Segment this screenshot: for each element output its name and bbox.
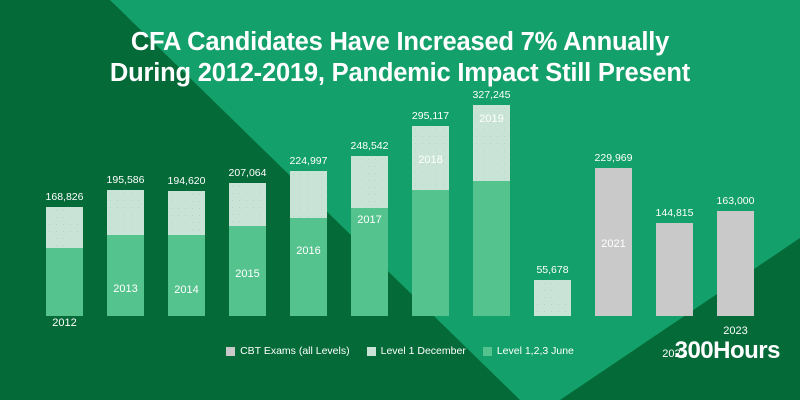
chart-title-line-1: CFA Candidates Have Increased 7% Annuall… [0,27,800,58]
bar-segment-december[interactable] [534,280,571,316]
bar-group-2014[interactable]: 194,6202014 [168,191,205,316]
bar-segment-december[interactable] [229,183,266,226]
legend-item-december[interactable]: Level 1 December [367,345,466,357]
legend-item-june[interactable]: Level 1,2,3 June [483,345,574,357]
bar-segment-june[interactable] [46,248,83,316]
legend-label: Level 1 December [381,345,466,357]
bar-group-2018[interactable]: 295,1172018 [412,126,449,316]
chart-title: CFA Candidates Have Increased 7% Annuall… [0,27,800,89]
bar-group-2023[interactable]: 163,0002023 [717,211,754,316]
bar-value-label: 224,997 [290,155,328,167]
bar-group-2021[interactable]: 229,9692021 [595,168,632,316]
legend-swatch-june-icon [483,347,492,356]
legend-label: Level 1,2,3 June [497,345,574,357]
bar-segment-december[interactable] [351,156,388,208]
bar-segment-cbt[interactable] [656,223,693,316]
bar-segment-june[interactable] [473,181,510,316]
bar-group-2015[interactable]: 207,0642015 [229,183,266,317]
infographic-canvas: CFA Candidates Have Increased 7% Annuall… [0,0,800,400]
bar-value-label: 55,678 [536,264,568,276]
x-axis-label-2015: 2015 [235,268,259,280]
x-axis-label-2014: 2014 [174,284,198,296]
x-axis-label-2017: 2017 [357,214,381,226]
x-axis-label-2019: 2019 [479,113,503,125]
brand-logo: 300Hours [675,337,780,365]
bar-segment-december[interactable] [168,191,205,236]
chart-title-line-2: During 2012-2019, Pandemic Impact Still … [0,58,800,89]
bar-value-label: 195,586 [107,174,145,186]
bar-segment-june[interactable] [107,235,144,316]
bar-segment-june[interactable] [412,190,449,316]
bar-group-2017[interactable]: 248,5422017 [351,156,388,316]
bar-group-2020[interactable]: 55,6782020 [534,280,571,316]
legend-item-cbt[interactable]: CBT Exams (all Levels) [226,345,350,357]
bar-group-2016[interactable]: 224,9972016 [290,171,327,316]
legend-swatch-cbt-icon [226,347,235,356]
bar-value-label: 194,620 [168,175,206,187]
bar-segment-december[interactable] [46,207,83,248]
legend-label: CBT Exams (all Levels) [240,345,350,357]
bar-segment-cbt[interactable] [717,211,754,316]
chart-plot-area: 168,8262012195,5862013194,6202014207,064… [34,105,766,316]
bar-value-label: 144,815 [656,207,694,219]
bar-value-label: 229,969 [595,152,633,164]
x-axis-label-2023: 2023 [723,325,747,337]
bar-value-label: 248,542 [351,140,389,152]
bar-group-2019[interactable]: 327,2452019 [473,105,510,316]
x-axis-label-2013: 2013 [113,283,137,295]
bar-value-label: 327,245 [473,89,511,101]
legend-swatch-december-icon [367,347,376,356]
bar-group-2012[interactable]: 168,8262012 [46,207,83,316]
x-axis-label-2018: 2018 [418,154,442,166]
x-axis-label-2016: 2016 [296,245,320,257]
bar-segment-december[interactable] [107,190,144,236]
content-layer: CFA Candidates Have Increased 7% Annuall… [0,0,800,400]
bar-group-2013[interactable]: 195,5862013 [107,190,144,316]
bar-segment-june[interactable] [168,235,205,316]
bar-value-label: 168,826 [46,191,84,203]
bar-value-label: 163,000 [717,195,755,207]
bar-value-label: 207,064 [229,167,267,179]
bar-group-2022[interactable]: 144,8152022 [656,223,693,316]
bar-segment-june[interactable] [290,218,327,316]
x-axis-label-2012: 2012 [52,317,76,329]
bar-value-label: 295,117 [412,110,449,122]
bar-segment-december[interactable] [290,171,327,218]
x-axis-label-2021: 2021 [601,238,625,250]
